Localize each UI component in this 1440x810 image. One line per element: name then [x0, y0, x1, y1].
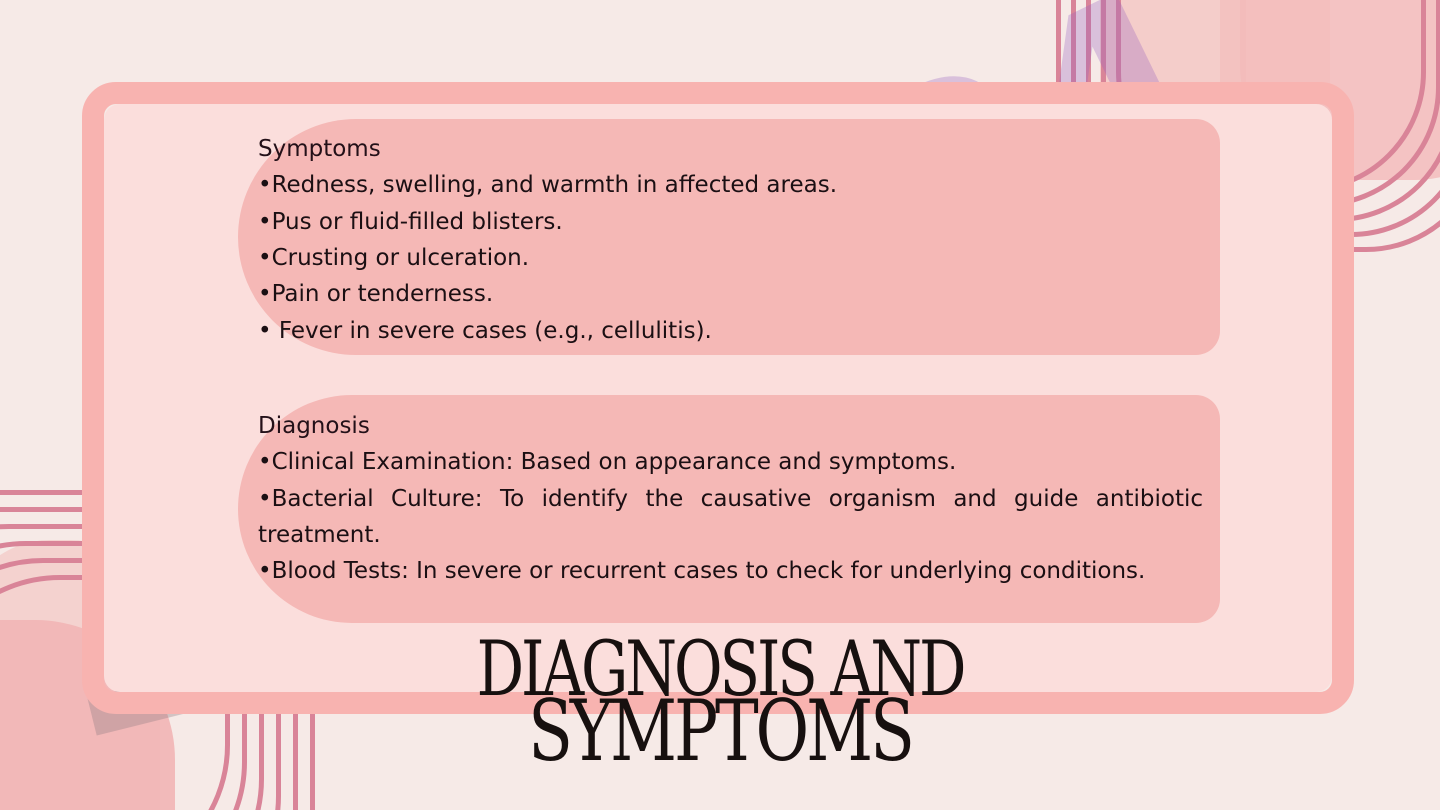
- symptoms-bullet-3: •Crusting or ulceration.: [258, 240, 1218, 276]
- symptoms-bullet-4: •Pain or tenderness.: [258, 276, 1218, 312]
- symptoms-bullet-2: •Pus or fluid-filled blisters.: [258, 204, 1218, 240]
- diagnosis-bullet-2-continuation: treatment.: [258, 517, 1203, 553]
- slide-canvas: Hujjat24 Symptoms •Redness, swelling, an…: [0, 0, 1440, 810]
- symptoms-bullet-1: •Redness, swelling, and warmth in affect…: [258, 167, 1218, 203]
- diagnosis-heading: Diagnosis: [258, 408, 1203, 444]
- symptoms-card: Symptoms •Redness, swelling, and warmth …: [238, 119, 1220, 355]
- symptoms-bullet-5: • Fever in severe cases (e.g., celluliti…: [258, 313, 1218, 349]
- diagnosis-card: Diagnosis •Clinical Examination: Based o…: [238, 395, 1220, 623]
- diagnosis-bullet-2: •Bacterial Culture: To identify the caus…: [258, 481, 1203, 517]
- symptoms-card-content: Symptoms •Redness, swelling, and warmth …: [258, 131, 1218, 349]
- symptoms-heading: Symptoms: [258, 131, 1218, 167]
- diagnosis-bullet-3: •Blood Tests: In severe or recurrent cas…: [258, 553, 1203, 589]
- diagnosis-bullet-1: •Clinical Examination: Based on appearan…: [258, 444, 1203, 480]
- diagnosis-card-content: Diagnosis •Clinical Examination: Based o…: [258, 408, 1203, 590]
